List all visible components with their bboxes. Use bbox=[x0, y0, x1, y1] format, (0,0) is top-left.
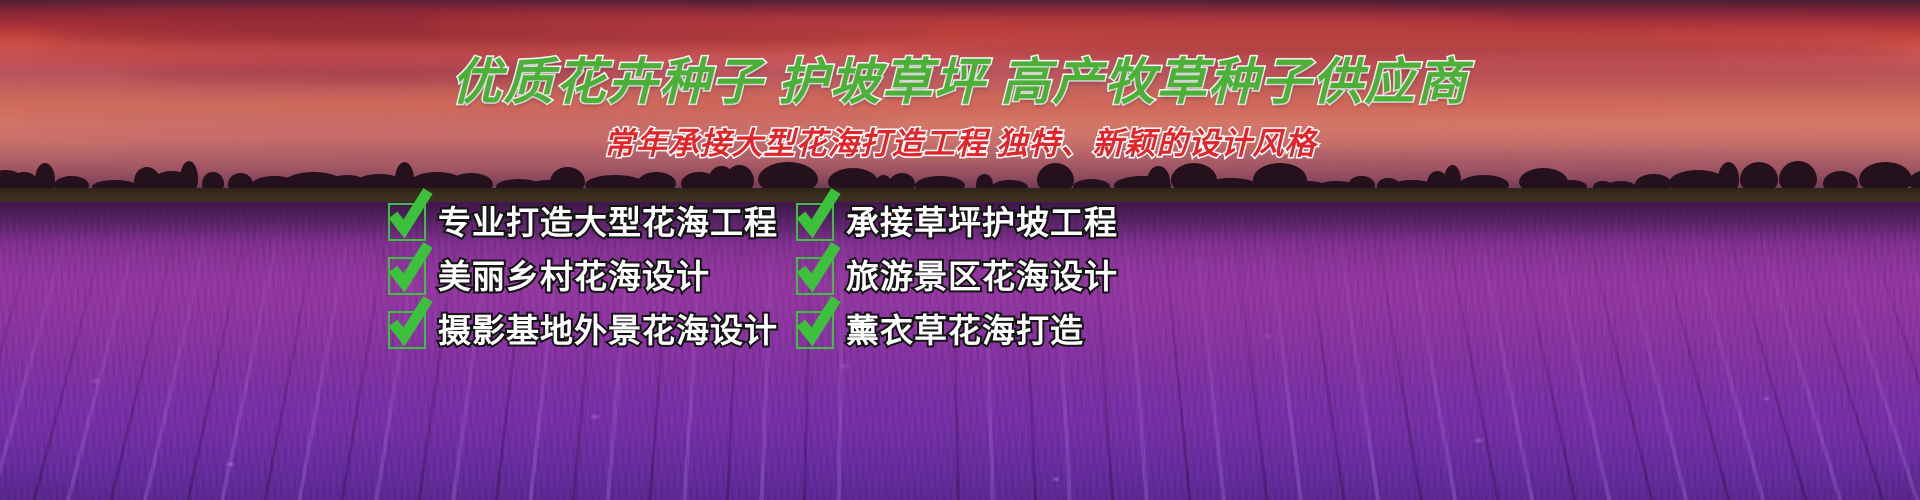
feature-item: 专业打造大型花海工程 bbox=[388, 203, 796, 241]
check-mark-icon bbox=[388, 311, 426, 349]
feature-item: 承接草坪护坡工程 bbox=[796, 203, 1118, 241]
promo-banner: 优质花卉种子 护坡草坪 高产牧草种子供应商 常年承接大型花海打造工程 独特、新颖… bbox=[0, 0, 1920, 500]
check-mark-icon bbox=[388, 203, 426, 241]
check-mark-icon bbox=[796, 257, 834, 295]
feature-row: 专业打造大型花海工程 承接草坪护坡工程 bbox=[388, 196, 1188, 248]
feature-label: 专业打造大型花海工程 bbox=[438, 206, 778, 239]
feature-label: 旅游景区花海设计 bbox=[846, 260, 1118, 293]
feature-checklist: 专业打造大型花海工程 承接草坪护坡工程 bbox=[388, 196, 1188, 358]
feature-item: 旅游景区花海设计 bbox=[796, 257, 1118, 295]
feature-item: 美丽乡村花海设计 bbox=[388, 257, 796, 295]
banner-subheadline: 常年承接大型花海打造工程 独特、新颖的设计风格 bbox=[0, 118, 1920, 163]
feature-row: 美丽乡村花海设计 旅游景区花海设计 bbox=[388, 250, 1188, 302]
feature-item: 薰衣草花海打造 bbox=[796, 311, 1084, 349]
check-mark-icon bbox=[796, 311, 834, 349]
banner-headline: 优质花卉种子 护坡草坪 高产牧草种子供应商 bbox=[0, 42, 1920, 114]
feature-label: 美丽乡村花海设计 bbox=[438, 260, 710, 293]
feature-row: 摄影基地外景花海设计 薰衣草花海打造 bbox=[388, 304, 1188, 356]
feature-label: 薰衣草花海打造 bbox=[846, 314, 1084, 347]
feature-label: 摄影基地外景花海设计 bbox=[438, 314, 778, 347]
feature-label: 承接草坪护坡工程 bbox=[846, 206, 1118, 239]
feature-item: 摄影基地外景花海设计 bbox=[388, 311, 796, 349]
check-mark-icon bbox=[388, 257, 426, 295]
banner-content: 优质花卉种子 护坡草坪 高产牧草种子供应商 常年承接大型花海打造工程 独特、新颖… bbox=[0, 0, 1920, 500]
check-mark-icon bbox=[796, 203, 834, 241]
